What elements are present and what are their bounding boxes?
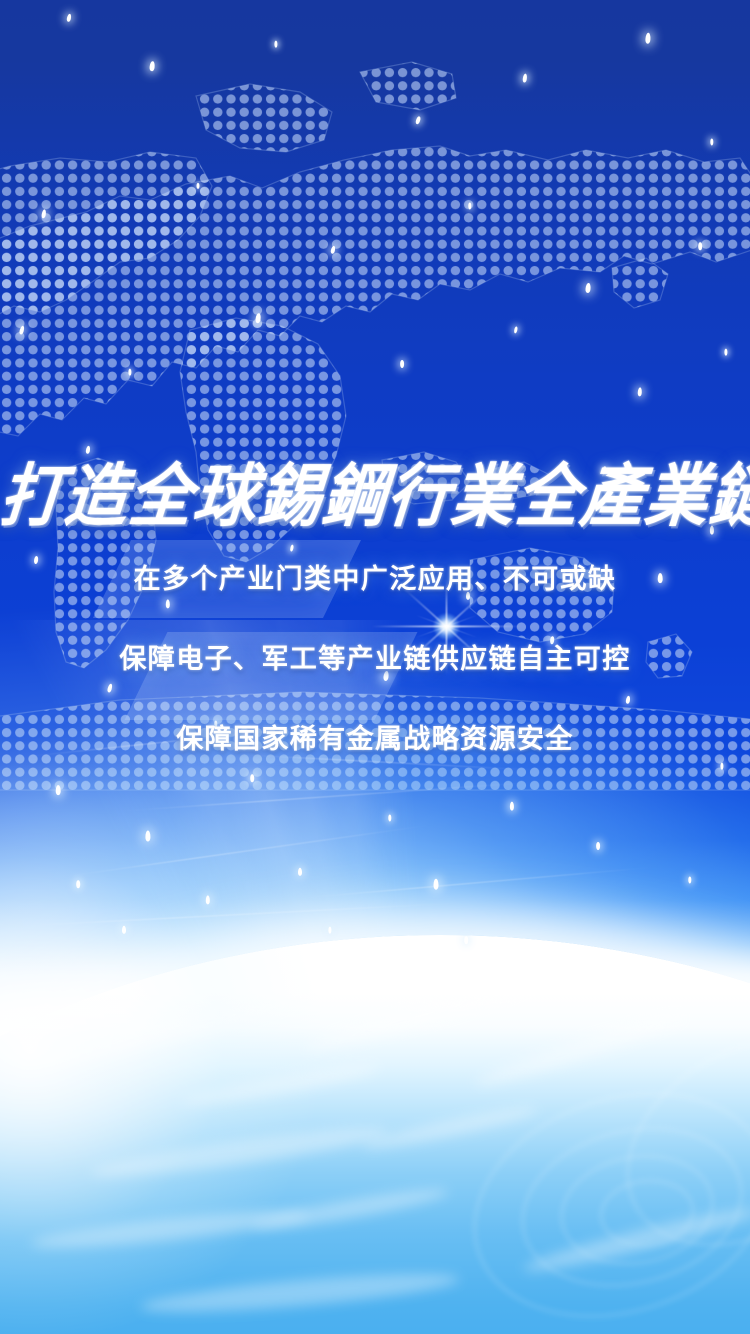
sparkle-41	[434, 879, 439, 890]
sparkle-39	[298, 868, 302, 876]
streak-6	[181, 928, 578, 978]
poster-root: 打造全球錫鋼行業全產業鏈鏈主 在多个产业门类中广泛应用、不可或缺 保障电子、军工…	[0, 0, 750, 1334]
cloud-swirls	[0, 980, 750, 1334]
cloud-wisp-1	[180, 1059, 380, 1111]
sparkle-48	[464, 936, 468, 944]
cloud-swirl-3	[597, 1175, 697, 1250]
subtitle-line-3: 保障国家稀有金属战略资源安全	[0, 712, 750, 766]
cloud-wisp-3	[90, 1119, 390, 1185]
cloud-swirl-2	[552, 1143, 722, 1276]
sparkle-44	[206, 895, 210, 904]
sparkle-45	[76, 880, 80, 888]
planet-surface	[0, 935, 750, 1334]
cloud-swirl-0	[444, 1056, 750, 1334]
sparkle-47	[328, 927, 331, 934]
page-title: 打造全球錫鋼行業全產業鏈鏈主	[0, 446, 750, 548]
cloud-wisp-9	[139, 1266, 460, 1320]
streak-5	[10, 902, 469, 927]
sparkle-46	[122, 926, 126, 934]
cloud-wisp-8	[521, 1201, 750, 1278]
cloud-wisp-5	[472, 1006, 687, 1093]
subtitle-line-2: 保障电子、军工等产业链供应链自主可控	[0, 632, 750, 686]
cloud-wisp-7	[250, 1183, 450, 1235]
horizon-glow	[0, 918, 750, 1098]
cloud-wisp-4	[360, 1101, 539, 1154]
earth-horizon	[0, 840, 750, 1334]
cloud-swirl-4	[590, 996, 750, 1287]
cloud-wisp-2	[302, 980, 538, 1059]
cloud-wisp-0	[41, 989, 299, 1073]
subtitle-list: 在多个产业门类中广泛应用、不可或缺 保障电子、军工等产业链供应链自主可控 保障国…	[0, 552, 750, 766]
sparkle-49	[688, 876, 691, 883]
subtitle-line-1: 在多个产业门类中广泛应用、不可或缺	[0, 552, 750, 606]
streak-4	[301, 866, 660, 899]
cloud-swirl-1	[505, 1105, 750, 1309]
cloud-wisp-6	[30, 1203, 311, 1254]
